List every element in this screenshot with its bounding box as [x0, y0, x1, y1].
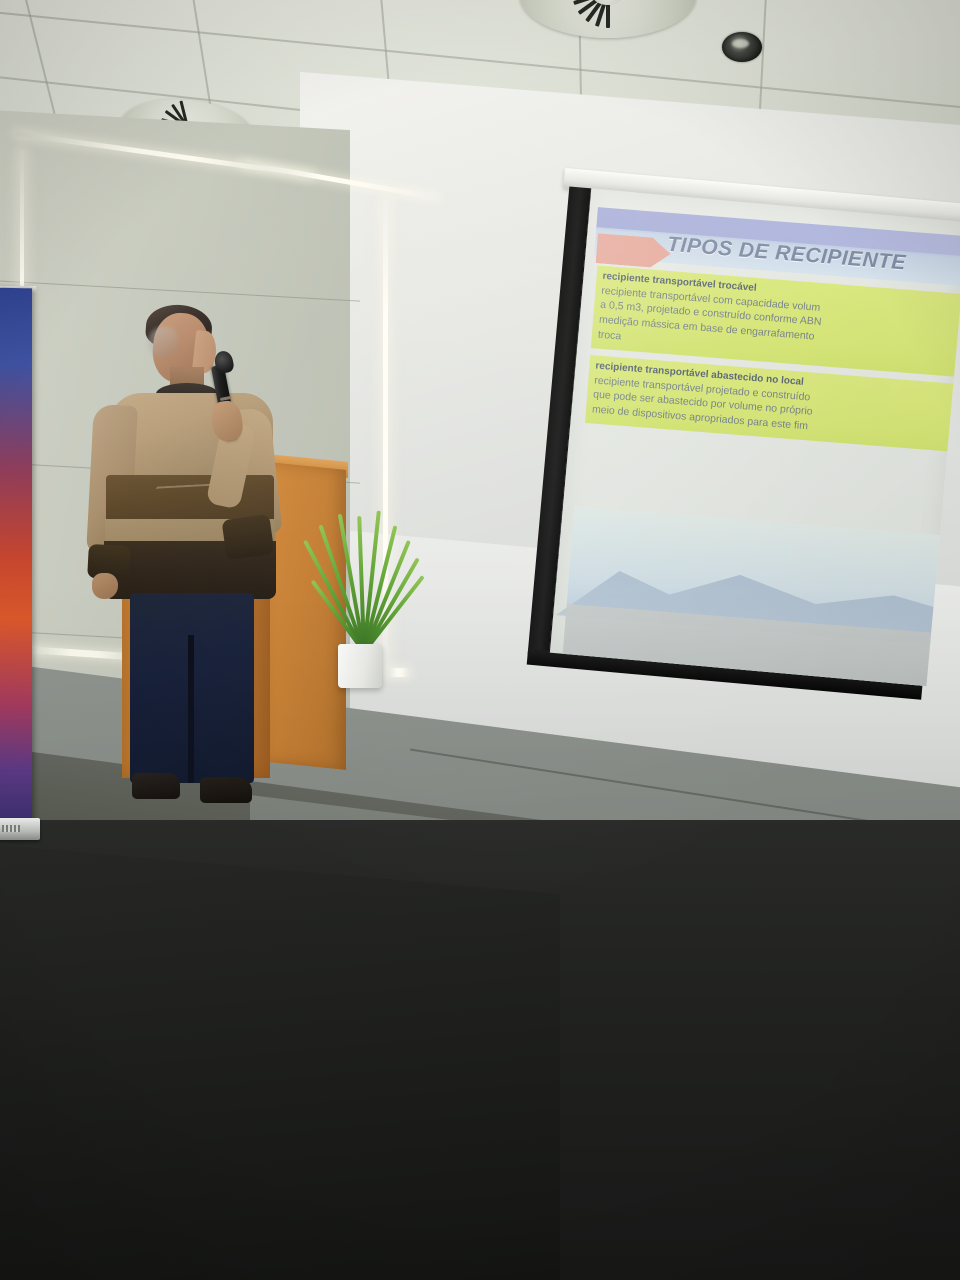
banner-base — [0, 818, 40, 840]
speaker-leg-separation — [188, 635, 194, 783]
projected-slide: TIPOS DE RECIPIENTE recipiente transport… — [572, 207, 960, 567]
roll-up-banner — [0, 288, 32, 824]
presentation-photo-scene: TIPOS DE RECIPIENTE recipiente transport… — [0, 0, 960, 1280]
projection-screen: TIPOS DE RECIPIENTE recipiente transport… — [519, 168, 960, 721]
screen-surface: TIPOS DE RECIPIENTE recipiente transport… — [550, 188, 960, 686]
plant-pot — [338, 644, 382, 688]
floor-foreground — [0, 845, 560, 1280]
speaker — [78, 305, 313, 815]
ceiling-air-vent — [520, 0, 696, 38]
wall-base-light — [388, 668, 410, 677]
speaker-right-cuff — [221, 514, 274, 560]
potted-plant — [330, 512, 394, 652]
speaker-right-shoe — [200, 777, 252, 803]
ceiling-downlight — [722, 32, 762, 62]
speaker-left-shoe — [132, 773, 180, 799]
speaker-left-hand — [92, 573, 118, 599]
speaker-hair-highlight — [148, 327, 178, 357]
